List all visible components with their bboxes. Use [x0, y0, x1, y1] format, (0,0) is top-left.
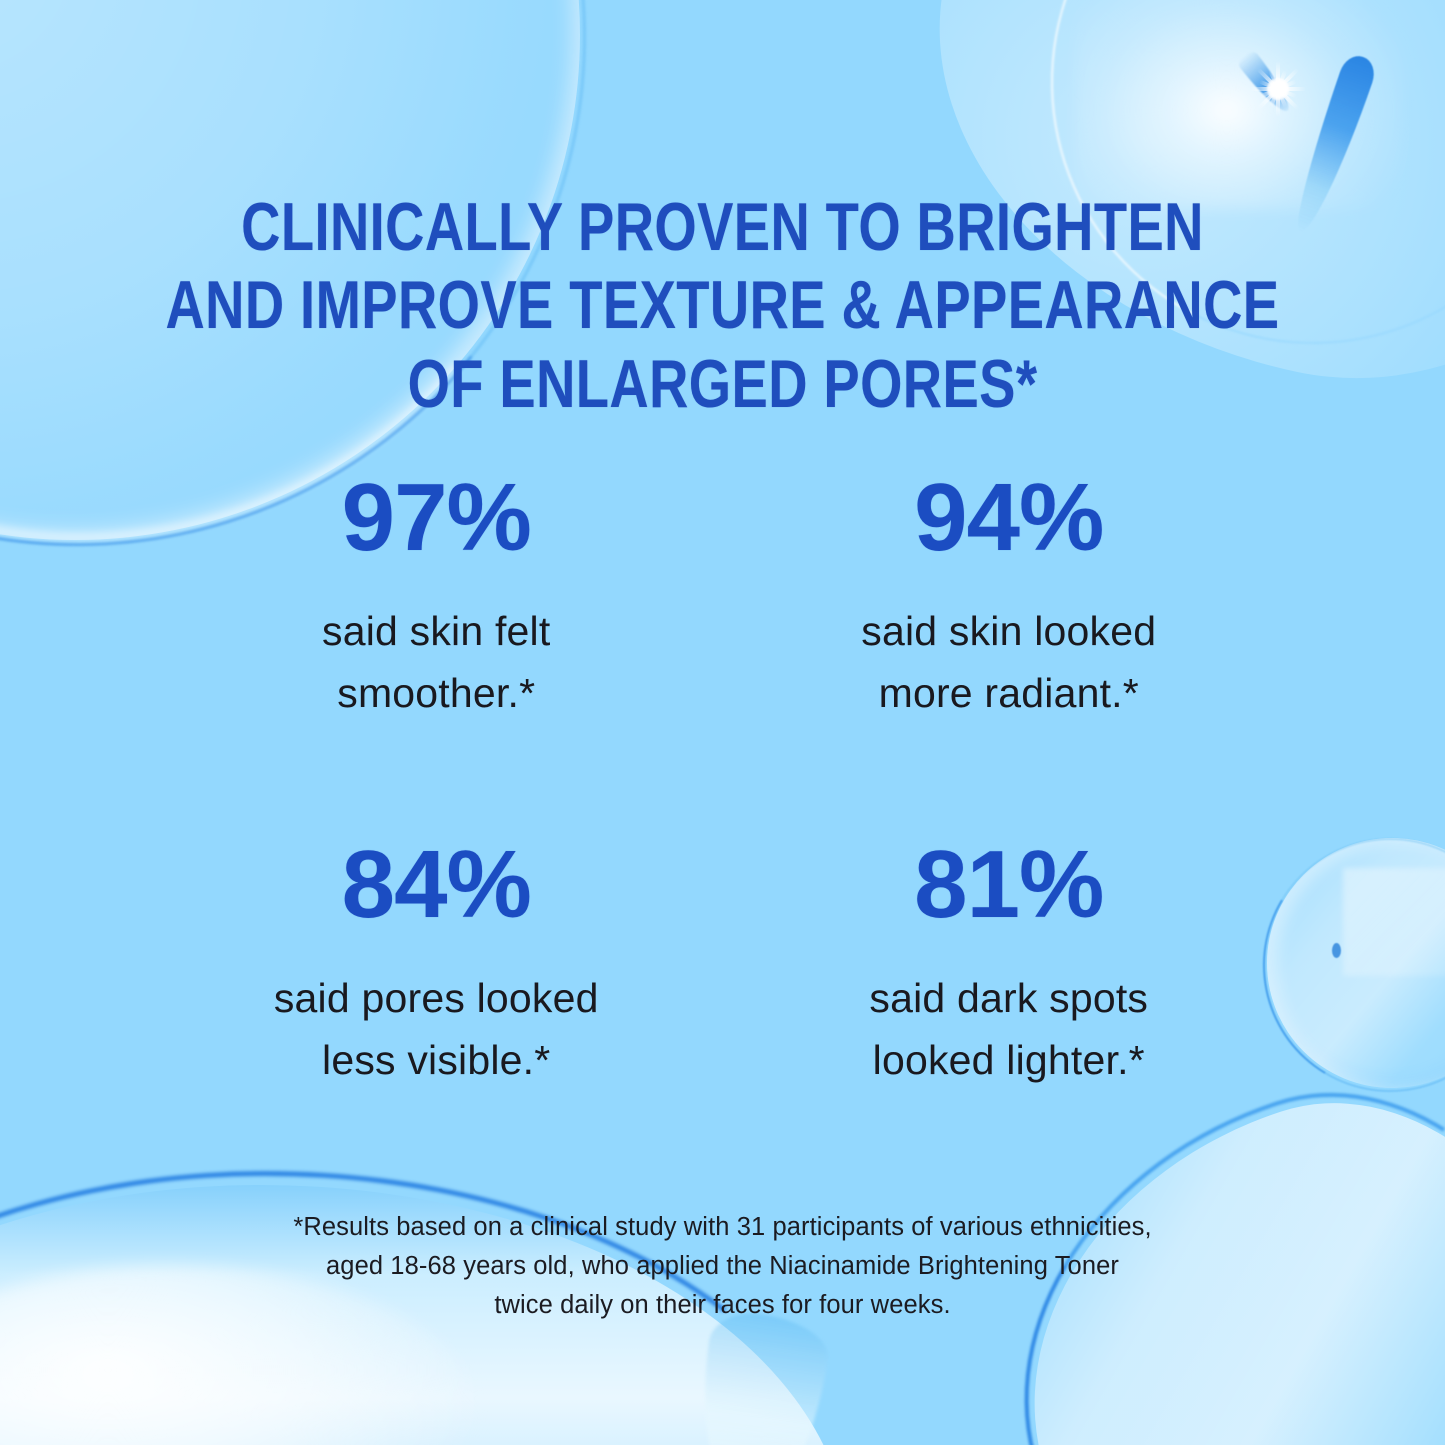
poster-content: CLINICALLY PROVEN TO BRIGHTEN AND IMPROV… [0, 0, 1445, 1445]
stat-card: 97% said skin felt smoother.* [150, 470, 723, 725]
footnote-disclaimer: *Results based on a clinical study with … [0, 1208, 1445, 1324]
footnote-line-1: *Results based on a clinical study with … [0, 1208, 1445, 1247]
stat-card: 81% said dark spots looked lighter.* [723, 837, 1296, 1092]
stat-caption-line-1: said dark spots [723, 967, 1296, 1029]
stat-card: 94% said skin looked more radiant.* [723, 470, 1296, 725]
stat-value: 81% [723, 837, 1296, 933]
headline-line-3: OF ENLARGED PORES* [145, 345, 1301, 424]
headline-line-1: CLINICALLY PROVEN TO BRIGHTEN [145, 188, 1301, 267]
headline-line-2: AND IMPROVE TEXTURE & APPEARANCE [145, 266, 1301, 345]
stat-value: 84% [150, 837, 723, 933]
page-title: CLINICALLY PROVEN TO BRIGHTEN AND IMPROV… [145, 188, 1301, 425]
stat-value: 94% [723, 470, 1296, 566]
stat-caption: said dark spots looked lighter.* [723, 967, 1296, 1092]
stat-caption-line-1: said pores looked [150, 967, 723, 1029]
footnote-line-2: aged 18-68 years old, who applied the Ni… [0, 1247, 1445, 1286]
stat-caption: said skin looked more radiant.* [723, 600, 1296, 725]
footnote-line-3: twice daily on their faces for four week… [0, 1286, 1445, 1325]
statistics-grid: 97% said skin felt smoother.* 94% said s… [150, 470, 1295, 1091]
stat-caption: said pores looked less visible.* [150, 967, 723, 1092]
stat-caption-line-2: smoother.* [150, 662, 723, 724]
stat-card: 84% said pores looked less visible.* [150, 837, 723, 1092]
stat-caption-line-2: looked lighter.* [723, 1029, 1296, 1091]
stat-caption-line-2: less visible.* [150, 1029, 723, 1091]
stat-value: 97% [150, 470, 723, 566]
stat-caption-line-2: more radiant.* [723, 662, 1296, 724]
clinical-results-poster: CLINICALLY PROVEN TO BRIGHTEN AND IMPROV… [0, 0, 1445, 1445]
stat-caption-line-1: said skin felt [150, 600, 723, 662]
stat-caption: said skin felt smoother.* [150, 600, 723, 725]
stat-caption-line-1: said skin looked [723, 600, 1296, 662]
